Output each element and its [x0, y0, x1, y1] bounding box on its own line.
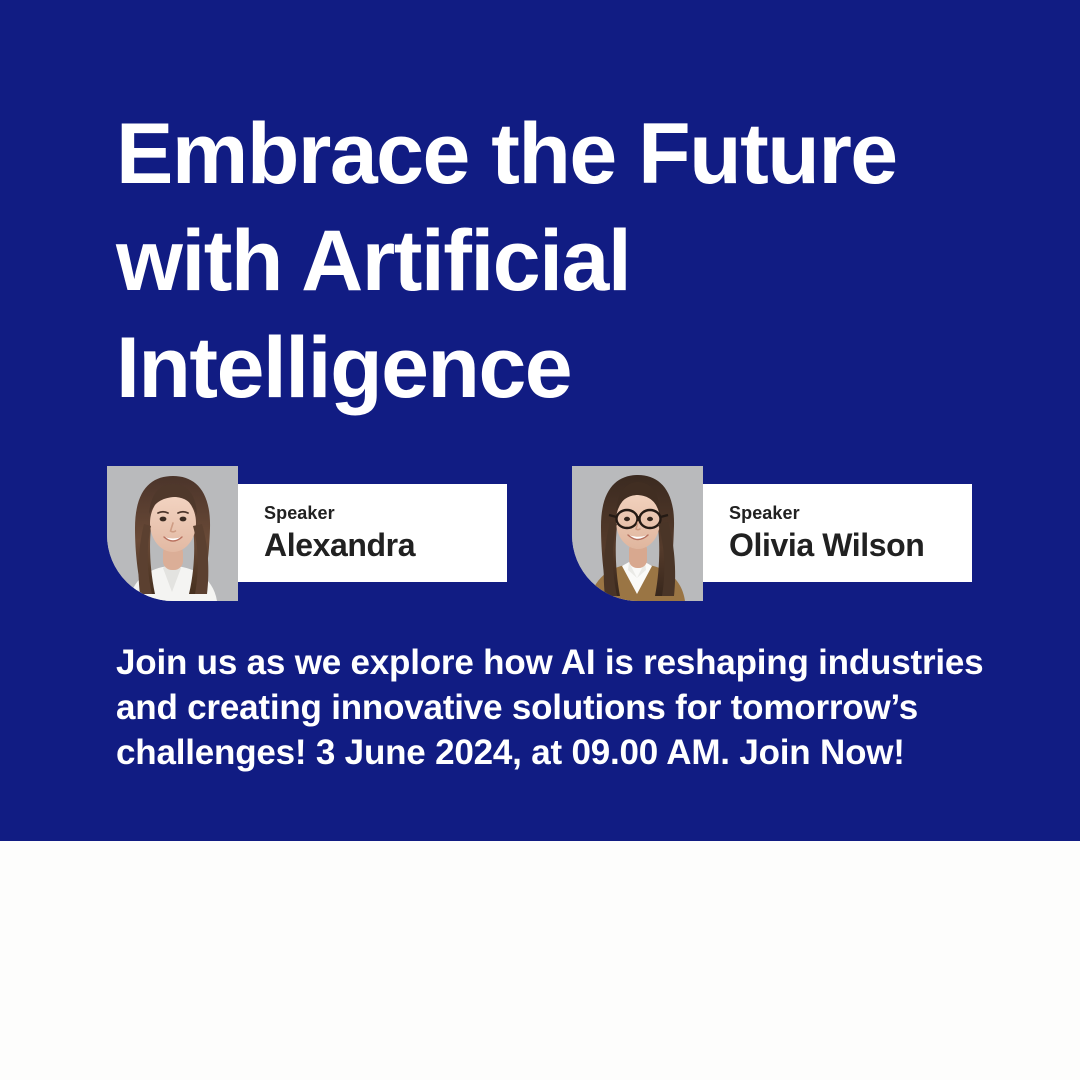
- speaker-name-plate: Speaker Alexandra: [238, 484, 507, 582]
- speaker-name-plate: Speaker Olivia Wilson: [703, 484, 972, 582]
- event-description: Join us as we explore how AI is reshapin…: [116, 640, 996, 775]
- hero-panel: Embrace the Future with Artificial Intel…: [0, 0, 1080, 841]
- speaker-role-label: Speaker: [729, 502, 972, 524]
- speaker-card: Speaker Olivia Wilson: [572, 466, 972, 601]
- speaker-card: Speaker Alexandra: [107, 466, 507, 601]
- page-title: Embrace the Future with Artificial Intel…: [116, 101, 1016, 422]
- footer-bar: Capcut Free Registration! Follow our soc…: [0, 841, 1080, 1080]
- avatar: [572, 466, 703, 601]
- speaker-name: Alexandra: [264, 526, 507, 564]
- speaker-name: Olivia Wilson: [729, 526, 972, 564]
- avatar: [107, 466, 238, 601]
- speaker-list: Speaker Alexandra: [0, 466, 1080, 601]
- speaker-role-label: Speaker: [264, 502, 507, 524]
- poster-canvas: Embrace the Future with Artificial Intel…: [0, 0, 1080, 1080]
